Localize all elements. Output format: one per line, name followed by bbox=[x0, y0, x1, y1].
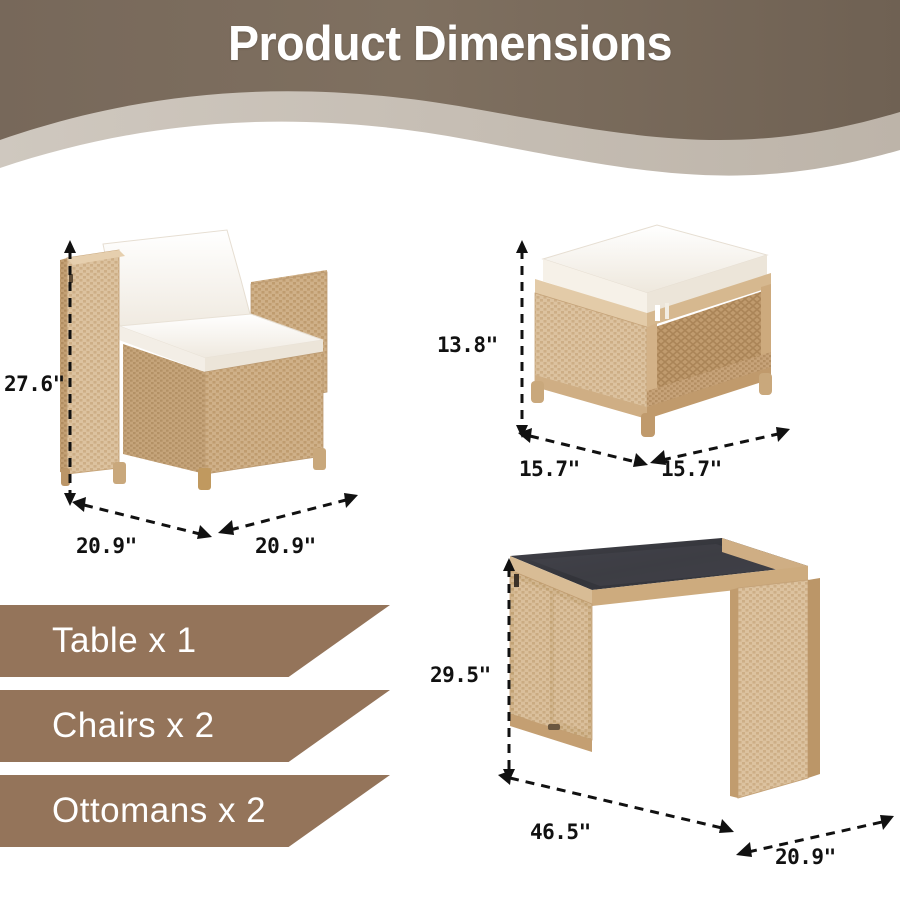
table-length-label: 46.5" bbox=[530, 820, 591, 844]
product-dimensions-infographic: Product Dimensions bbox=[0, 0, 900, 900]
chair-depth-label: 20.9" bbox=[76, 534, 137, 558]
ottoman-illustration bbox=[505, 215, 805, 445]
chair-illustration bbox=[55, 222, 385, 522]
table-width-label: 20.9" bbox=[775, 845, 836, 869]
ottoman-height-guide bbox=[508, 240, 536, 440]
table-height-label: 29.5" bbox=[430, 663, 491, 687]
table-height-guide bbox=[495, 558, 523, 784]
page-title: Product Dimensions bbox=[23, 16, 878, 72]
header-banner: Product Dimensions bbox=[0, 0, 900, 200]
chair-width-label: 20.9" bbox=[255, 534, 316, 558]
banner-table-count: Table x 1 bbox=[0, 605, 390, 677]
chair-width-guide bbox=[218, 490, 358, 538]
banner-label-chairs: Chairs x 2 bbox=[0, 706, 215, 746]
chair-height-label: 27.6" bbox=[4, 372, 65, 396]
ottoman-height-label: 13.8" bbox=[437, 333, 498, 357]
ottoman-depth-label: 15.7" bbox=[519, 457, 580, 481]
banner-chairs-count: Chairs x 2 bbox=[0, 690, 390, 762]
ottoman-width-label: 15.7" bbox=[661, 457, 722, 481]
banner-label-ottomans: Ottomans x 2 bbox=[0, 791, 266, 831]
banner-label-table: Table x 1 bbox=[0, 621, 197, 661]
banner-ottomans-count: Ottomans x 2 bbox=[0, 775, 390, 847]
